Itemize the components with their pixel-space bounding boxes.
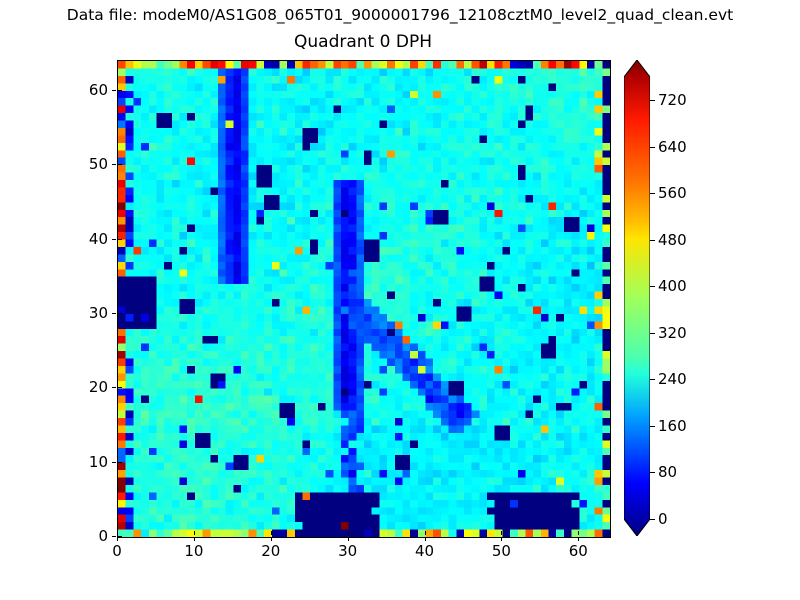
y-tick-label: 30 xyxy=(48,304,108,322)
colorbar-tick-label: 80 xyxy=(658,463,677,481)
x-tick-mark-inner xyxy=(425,531,426,535)
x-tick-mark xyxy=(117,537,118,541)
x-tick-mark-inner xyxy=(501,531,502,535)
colorbar-tick-label: 320 xyxy=(658,324,687,342)
colorbar-tick-label: 640 xyxy=(658,138,687,156)
x-tick-mark-inner xyxy=(117,531,118,535)
x-tick-label: 50 xyxy=(471,542,531,560)
colorbar-tick-mark xyxy=(650,379,655,380)
colorbar-tick-mark xyxy=(650,286,655,287)
y-tick-label: 0 xyxy=(48,527,108,545)
y-tick-mark xyxy=(112,164,116,165)
y-tick-mark xyxy=(112,239,116,240)
colorbar-tick-mark xyxy=(650,147,655,148)
x-tick-mark-inner xyxy=(271,531,272,535)
x-tick-label: 60 xyxy=(548,542,608,560)
x-tick-mark xyxy=(348,537,349,541)
heatmap-image[interactable] xyxy=(118,61,610,537)
colorbar-tick-mark xyxy=(650,333,655,334)
figure-canvas: Data file: modeM0/AS1G08_065T01_90000017… xyxy=(0,0,800,600)
colorbar-tick-mark xyxy=(650,426,655,427)
y-tick-mark-inner xyxy=(118,239,122,240)
colorbar-gradient xyxy=(624,60,650,536)
x-tick-mark xyxy=(271,537,272,541)
colorbar-tick-label: 0 xyxy=(658,510,668,528)
y-tick-mark-inner xyxy=(118,462,122,463)
y-tick-mark-inner xyxy=(118,536,122,537)
x-tick-mark xyxy=(578,537,579,541)
colorbar-tick-label: 480 xyxy=(658,231,687,249)
colorbar-tick-mark xyxy=(650,240,655,241)
x-tick-mark xyxy=(425,537,426,541)
y-tick-mark-inner xyxy=(118,90,122,91)
y-tick-mark xyxy=(112,462,116,463)
y-tick-mark xyxy=(112,313,116,314)
x-tick-label: 20 xyxy=(241,542,301,560)
colorbar[interactable] xyxy=(624,60,650,536)
colorbar-tick-label: 560 xyxy=(658,184,687,202)
x-tick-label: 30 xyxy=(318,542,378,560)
x-tick-mark-inner xyxy=(194,531,195,535)
colorbar-tick-label: 240 xyxy=(658,370,687,388)
page-title: Quadrant 0 DPH xyxy=(117,31,609,53)
y-tick-label: 20 xyxy=(48,378,108,396)
y-tick-label: 40 xyxy=(48,230,108,248)
y-tick-mark-inner xyxy=(118,387,122,388)
colorbar-tick-label: 720 xyxy=(658,91,687,109)
colorbar-tick-mark xyxy=(650,193,655,194)
y-tick-mark xyxy=(112,90,116,91)
colorbar-tick-mark xyxy=(650,472,655,473)
colorbar-tick-label: 160 xyxy=(658,417,687,435)
x-tick-label: 10 xyxy=(164,542,224,560)
colorbar-tick-label: 400 xyxy=(658,277,687,295)
y-tick-label: 10 xyxy=(48,453,108,471)
y-tick-mark-inner xyxy=(118,313,122,314)
y-tick-label: 50 xyxy=(48,155,108,173)
x-tick-mark xyxy=(501,537,502,541)
figure-suptitle: Data file: modeM0/AS1G08_065T01_90000017… xyxy=(0,6,800,25)
y-tick-label: 60 xyxy=(48,81,108,99)
colorbar-tick-mark xyxy=(650,100,655,101)
colorbar-tick-mark xyxy=(650,519,655,520)
y-tick-mark xyxy=(112,387,116,388)
x-tick-mark-inner xyxy=(348,531,349,535)
heatmap-axes[interactable] xyxy=(117,60,611,538)
x-tick-mark-inner xyxy=(578,531,579,535)
y-tick-mark xyxy=(112,536,116,537)
x-tick-mark xyxy=(194,537,195,541)
y-tick-mark-inner xyxy=(118,164,122,165)
x-tick-label: 40 xyxy=(395,542,455,560)
